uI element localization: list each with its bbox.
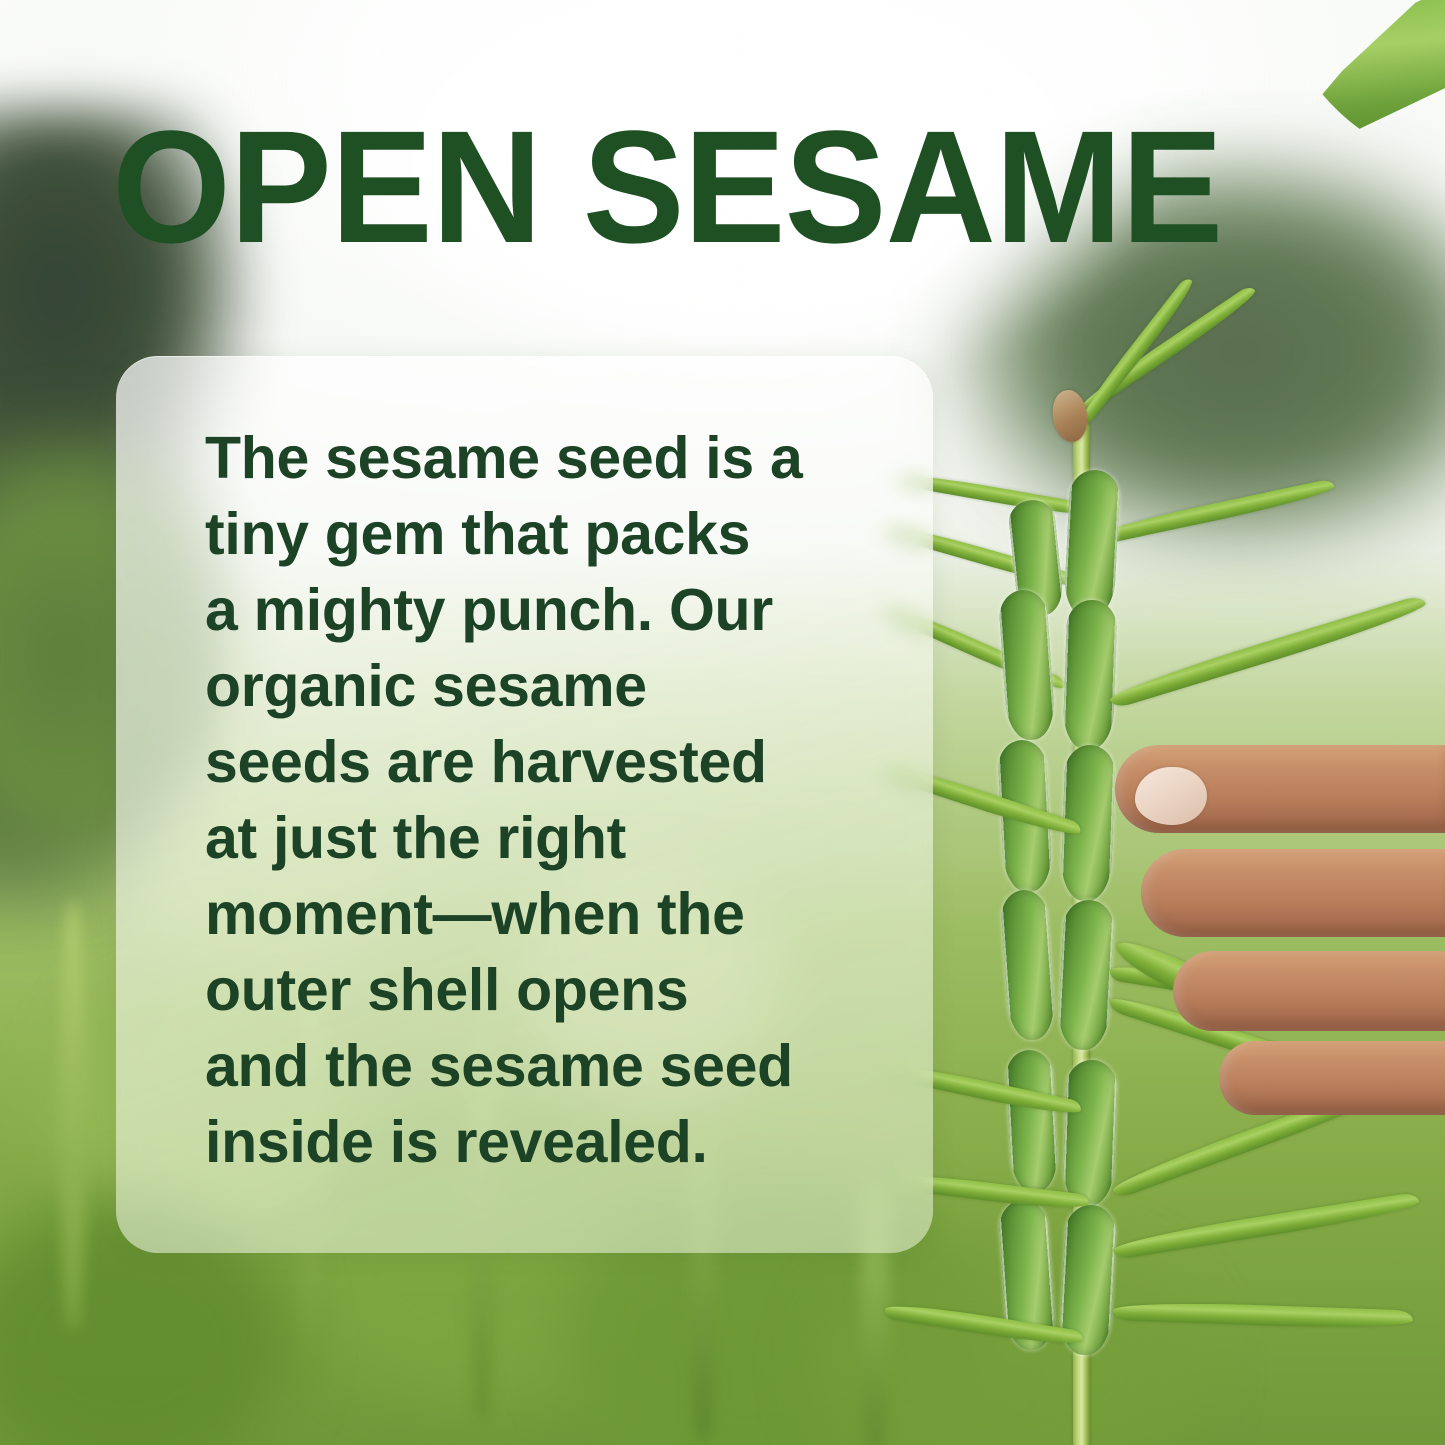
body-paragraph: The sesame seed is a tiny gem that packs… (205, 420, 845, 1180)
sesame-pod (1057, 899, 1115, 1051)
plant-leaf (884, 1300, 1084, 1349)
middle-finger (1141, 849, 1445, 937)
corner-leaf-icon (1232, 0, 1445, 164)
poster-canvas: OPEN SESAME The sesame seed is a tiny ge… (0, 0, 1445, 1445)
little-finger (1219, 1041, 1445, 1115)
plant-leaf (1107, 594, 1428, 710)
hand (1115, 745, 1445, 1135)
sesame-pod (1062, 1059, 1117, 1207)
sesame-pod (1062, 599, 1117, 751)
plant-leaf (1111, 1192, 1420, 1260)
ring-finger (1173, 951, 1445, 1031)
plant-leaf (1113, 1300, 1414, 1330)
page-title: OPEN SESAME (112, 112, 1222, 262)
background-stalk (60, 900, 86, 1330)
plant-leaf (1075, 276, 1198, 427)
plant-leaf (1088, 478, 1336, 547)
sesame-pod (1000, 889, 1056, 1042)
sesame-pod (1063, 469, 1121, 619)
fingernail (1135, 767, 1207, 825)
sesame-pod (1005, 1049, 1058, 1193)
glass-info-card: The sesame seed is a tiny gem that packs… (116, 356, 933, 1253)
